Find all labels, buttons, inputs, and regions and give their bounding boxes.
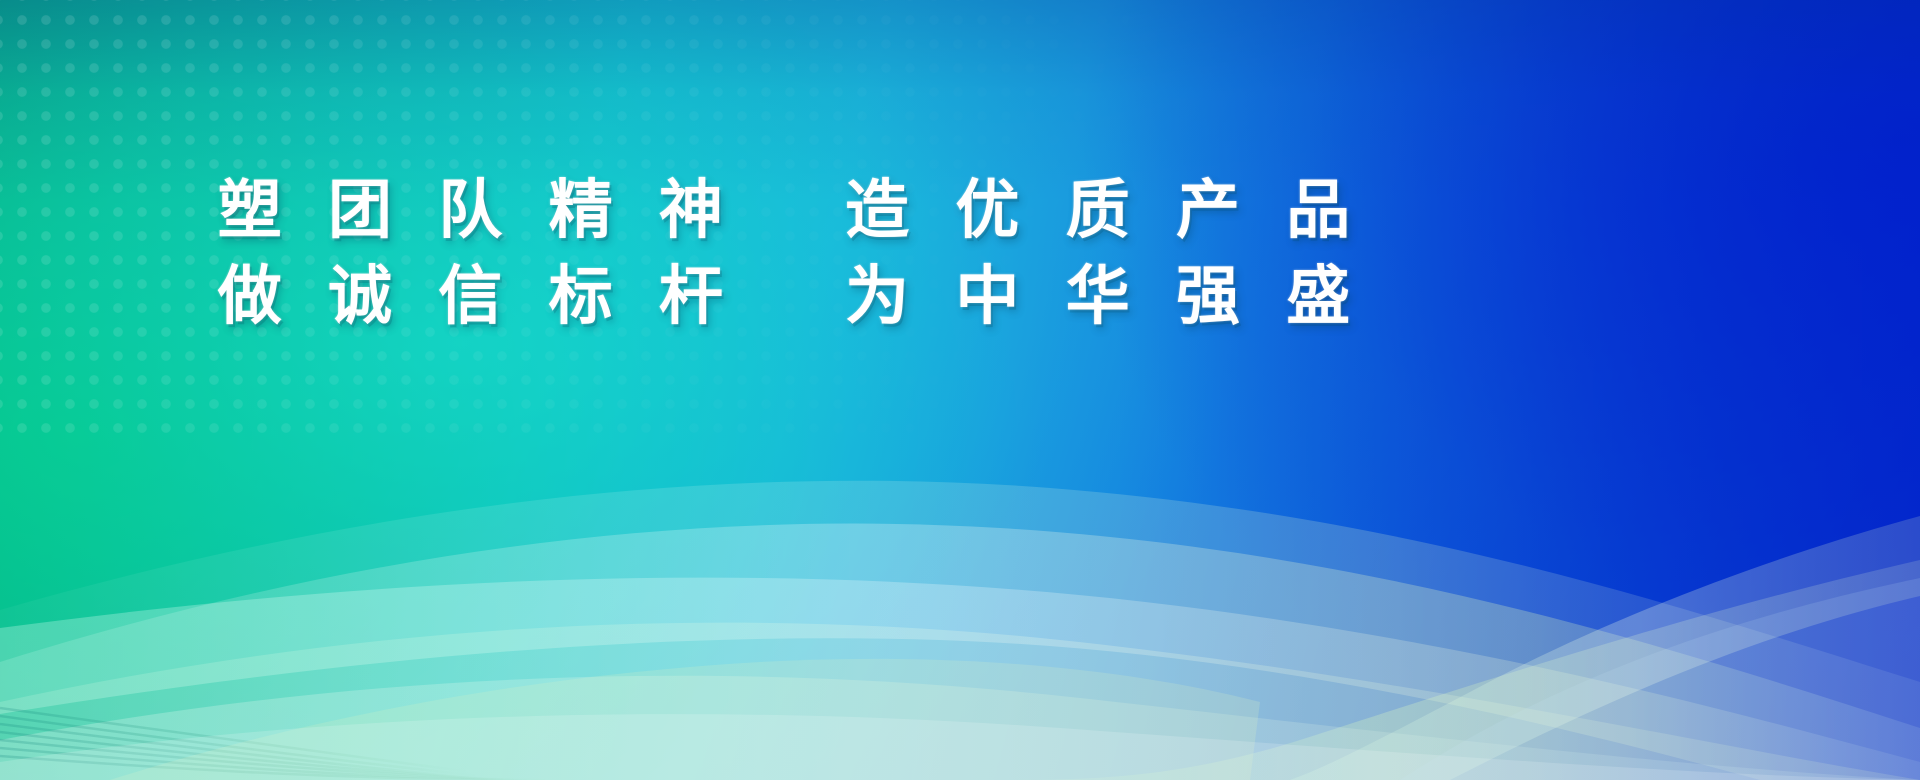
background-top-shade bbox=[0, 0, 1920, 780]
wave-layer-right-rise bbox=[1010, 560, 1920, 780]
wave-accent-green bbox=[110, 659, 1260, 780]
slogan-block: 塑 团 队 精 神 造 优 质 产 品 做 诚 信 标 杆 为 中 华 强 盛 bbox=[0, 168, 1920, 340]
wave-layer-5 bbox=[0, 676, 1920, 780]
wave-ribbons-decoration bbox=[0, 310, 1920, 780]
background-base-gradient bbox=[0, 0, 1920, 780]
wave-layer-right-thin bbox=[1290, 516, 1920, 780]
background-blue-glow bbox=[0, 0, 1920, 780]
slogan-line-2: 做 诚 信 标 杆 为 中 华 强 盛 bbox=[0, 254, 1580, 340]
wave-striations bbox=[0, 708, 550, 780]
wave-layer-2 bbox=[0, 524, 1920, 780]
wave-foam-front bbox=[0, 714, 1920, 780]
slogan-line-1: 塑 团 队 精 神 造 优 质 产 品 bbox=[0, 168, 1580, 254]
background-cyan-glow bbox=[0, 0, 1920, 780]
wave-layer-4 bbox=[0, 623, 1920, 780]
wave-layer-1 bbox=[0, 481, 1920, 780]
wave-layer-3 bbox=[0, 578, 1920, 780]
background-right-edge-shade bbox=[0, 0, 1920, 780]
wave-right-top-arc bbox=[1400, 578, 1920, 780]
banner-container: 塑 团 队 精 神 造 优 质 产 品 做 诚 信 标 杆 为 中 华 强 盛 bbox=[0, 0, 1920, 780]
background-green-glow bbox=[0, 0, 1920, 780]
